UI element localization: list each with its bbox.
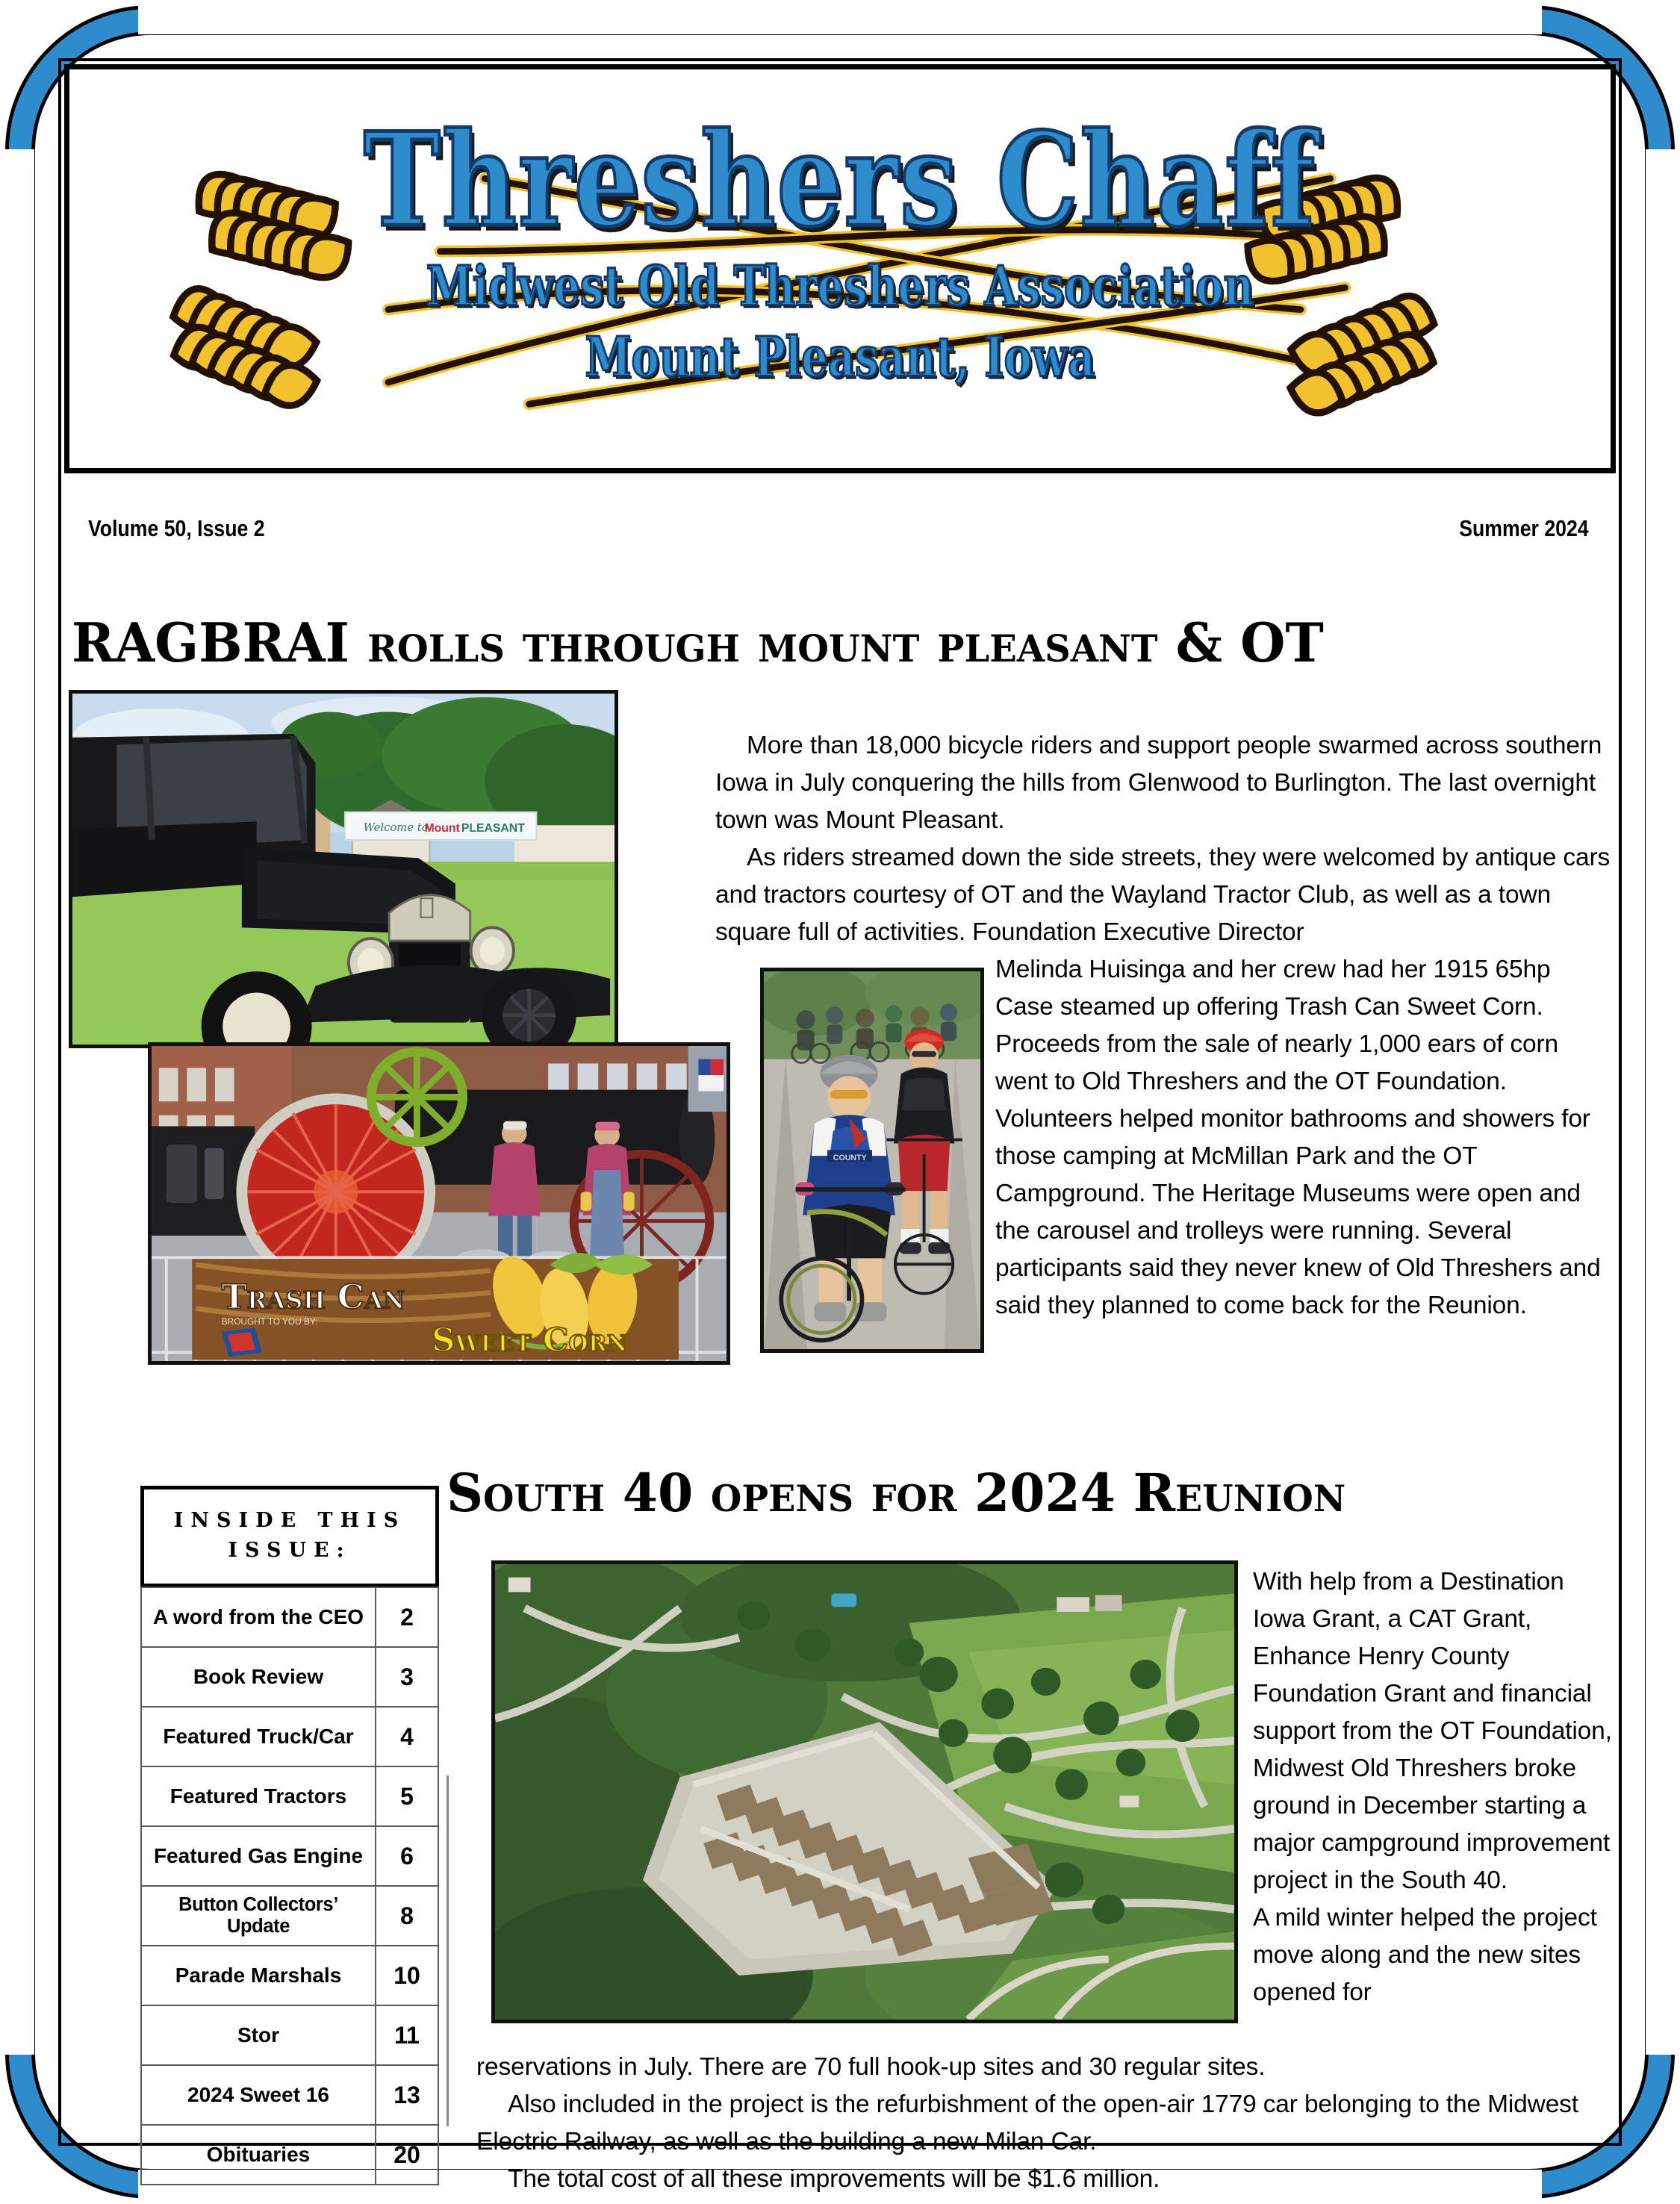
toc-label: Featured Tractors <box>141 1766 376 1826</box>
toc-label: Obituaries <box>141 2125 376 2185</box>
table-row[interactable]: Button Collectors’ Update 8 <box>141 1886 438 1946</box>
page-content: Threshers Chaff Midwest Old Threshers As… <box>58 58 1622 2146</box>
toc-label: Featured Gas Engine <box>141 1826 376 1886</box>
article2-flow-paragraph-1: reservations in July. There are 70 full … <box>476 2049 1611 2086</box>
article2-flow-paragraph-2: Also included in the project is the refu… <box>476 2086 1611 2161</box>
south-40-aerial-photo <box>491 1560 1238 2023</box>
svg-text:BROUGHT TO YOU BY:: BROUGHT TO YOU BY: <box>222 1317 318 1327</box>
svg-text:Mount: Mount <box>425 822 461 835</box>
table-row[interactable]: Featured Truck/Car 4 <box>141 1707 438 1766</box>
newsletter-page: Threshers Chaff Midwest Old Threshers As… <box>0 0 1680 2204</box>
issue-line: Volume 50, Issue 2 Summer 2024 <box>88 515 1589 542</box>
article2-side-paragraph-1: With help from a Destination Iowa Grant,… <box>1253 1563 1619 1899</box>
table-row[interactable]: A word from the CEO 2 <box>141 1587 438 1647</box>
masthead: Threshers Chaff Midwest Old Threshers As… <box>64 64 1616 473</box>
toc-page: 5 <box>376 1766 438 1826</box>
toc-label: Featured Truck/Car <box>141 1707 376 1766</box>
toc-heading-line2: ISSUE: <box>150 1536 429 1566</box>
toc-page: 10 <box>376 1946 438 2005</box>
column-divider-rule <box>447 1775 449 2126</box>
svg-text:PLEASANT: PLEASANT <box>461 822 525 835</box>
article2-flow-paragraph-3: The total cost of all these improvements… <box>476 2161 1611 2198</box>
ragbrai-cyclists-photo: COUNTY <box>760 968 984 1353</box>
table-row[interactable]: Obituaries 20 <box>141 2125 438 2185</box>
model-t-car-photo: Welcome to Mount PLEASANT <box>69 690 618 1048</box>
toc-heading-line1: INSIDE THIS <box>150 1506 429 1536</box>
toc-label: A word from the CEO <box>141 1587 376 1647</box>
volume-issue-label: Volume 50, Issue 2 <box>88 515 265 542</box>
article2-headline: South 40 opens for 2024 Reunion <box>447 1462 1345 1524</box>
frame-mask-left <box>0 149 34 2055</box>
season-label: Summer 2024 <box>1460 515 1589 542</box>
toc-page: 8 <box>376 1886 438 1946</box>
article1-paragraph-block-2: Melinda Huisinga and her crew had her 19… <box>995 951 1615 1324</box>
table-row[interactable]: Stor 11 <box>141 2005 438 2065</box>
article1-headline: RAGBRAI rolls through mount pleasant & O… <box>72 611 1324 674</box>
article1-paragraph-block-1: More than 18,000 bicycle riders and supp… <box>715 727 1611 951</box>
table-row[interactable]: Featured Gas Engine 6 <box>141 1826 438 1886</box>
table-row[interactable]: Parade Marshals 10 <box>141 1946 438 2005</box>
trash-can-sweet-corn-photo: Trash Can BROUGHT TO YOU BY: Sweet Corn <box>148 1042 730 1365</box>
svg-text:Sweet Corn: Sweet Corn <box>432 1322 627 1360</box>
article1-headline-lead: RAGBRAI <box>72 611 349 674</box>
article2-flow-column: reservations in July. There are 70 full … <box>476 2049 1611 2198</box>
frame-mask-top <box>138 0 1542 34</box>
toc-table: A word from the CEO 2 Book Review 3 Feat… <box>140 1587 439 2185</box>
toc-page: 3 <box>376 1647 438 1707</box>
article1-paragraph-1: More than 18,000 bicycle riders and supp… <box>715 727 1611 839</box>
svg-text:Welcome to: Welcome to <box>364 821 429 834</box>
article1-headline-rest: rolls through mount pleasant & OT <box>349 611 1324 674</box>
frame-mask-right <box>1646 149 1680 2055</box>
toc-label: Button Collectors’ Update <box>141 1886 376 1946</box>
article1-paragraph-2: As riders streamed down the side streets… <box>715 839 1611 951</box>
article2-side-column: With help from a Destination Iowa Grant,… <box>1253 1563 1619 2011</box>
toc-page: 6 <box>376 1826 438 1886</box>
toc-page: 20 <box>376 2125 438 2185</box>
toc-label: Stor <box>141 2005 376 2065</box>
svg-text:COUNTY: COUNTY <box>833 1154 867 1162</box>
article1-paragraph-3: Melinda Huisinga and her crew had her 19… <box>995 951 1615 1324</box>
toc-label: 2024 Sweet 16 <box>141 2065 376 2125</box>
table-row[interactable]: 2024 Sweet 16 13 <box>141 2065 438 2125</box>
toc-heading: INSIDE THIS ISSUE: <box>140 1486 439 1587</box>
masthead-subtitle-location: Mount Pleasant, Iowa <box>69 329 1611 386</box>
article2-side-paragraph-2: A mild winter helped the project move al… <box>1253 1899 1619 2011</box>
toc-label: Parade Marshals <box>141 1946 376 2005</box>
masthead-title: Threshers Chaff <box>69 116 1611 245</box>
toc-page: 4 <box>376 1707 438 1766</box>
toc-page: 2 <box>376 1587 438 1647</box>
toc-label: Book Review <box>141 1647 376 1707</box>
inside-this-issue-box: INSIDE THIS ISSUE: A word from the CEO 2… <box>140 1486 439 2185</box>
table-row[interactable]: Book Review 3 <box>141 1647 438 1707</box>
svg-text:Trash Can: Trash Can <box>222 1277 405 1317</box>
table-row[interactable]: Featured Tractors 5 <box>141 1766 438 1826</box>
toc-page: 13 <box>376 2065 438 2125</box>
toc-page: 11 <box>376 2005 438 2065</box>
masthead-subtitle-association: Midwest Old Threshers Association <box>69 258 1611 315</box>
